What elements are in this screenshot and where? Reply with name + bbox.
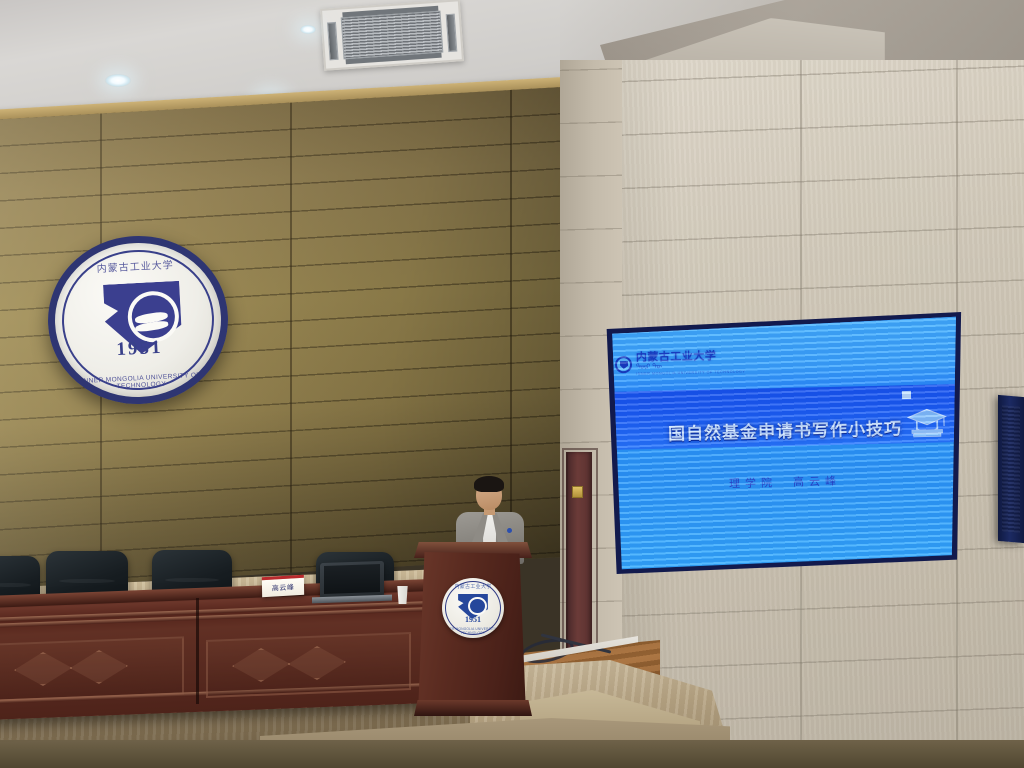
podium-crest-circle-icon <box>468 597 487 615</box>
podium-base <box>414 700 532 716</box>
ac-grille-icon <box>341 11 444 60</box>
slide-subtitle: 理学院 高云峰 <box>600 470 970 495</box>
laptop[interactable] <box>320 561 384 599</box>
ac-vane-left <box>327 22 339 61</box>
slide-logo-text: 内蒙古工业大学 ᠳᠦᠷ ᠲᠦ INNER MONGOLIA UNIVERSITY… <box>636 350 746 377</box>
downlight-1 <box>105 74 131 87</box>
led-video-wall[interactable]: 内蒙古工业大学 ᠳᠦᠷ ᠲᠦ INNER MONGOLIA UNIVERSITY… <box>600 312 970 574</box>
screen-display-area: 内蒙古工业大学 ᠳᠦᠷ ᠲᠦ INNER MONGOLIA UNIVERSITY… <box>600 312 970 574</box>
lecture-hall-photo: 内蒙古工业大学 1951 INNER MONGOLIA UNIVERSITY O… <box>0 0 1024 768</box>
ac-vane-right <box>446 14 458 53</box>
podium-crest-english: INNER MONGOLIA UNIVERSITY OF TECHNOLOGY <box>442 627 504 635</box>
downlight-6 <box>300 25 316 34</box>
wood-seam-1 <box>290 103 292 573</box>
slide-university-logo: 内蒙古工业大学 ᠳᠦᠷ ᠲᠦ INNER MONGOLIA UNIVERSITY… <box>615 350 746 377</box>
door-plaque-icon <box>572 486 583 498</box>
podium-crest: 内蒙古工业大学 1951 INNER MONGOLIA UNIVERSITY O… <box>442 578 504 638</box>
cassette-air-conditioner <box>320 0 464 71</box>
name-card-text: 高云峰 <box>272 582 295 593</box>
podium-crest-year: 1951 <box>442 615 504 624</box>
presenter-hair <box>474 476 504 492</box>
name-card: 高云峰 <box>262 575 304 597</box>
slide-logo-mark-icon <box>615 356 632 373</box>
presenter-badge-icon <box>507 528 512 533</box>
podium-crest-chinese: 内蒙古工业大学 <box>442 583 504 590</box>
table-segment-divider <box>196 598 199 704</box>
wall-speaker <box>998 395 1024 543</box>
slide-white-square-decor <box>902 390 911 398</box>
foreground-floor <box>0 740 1024 768</box>
